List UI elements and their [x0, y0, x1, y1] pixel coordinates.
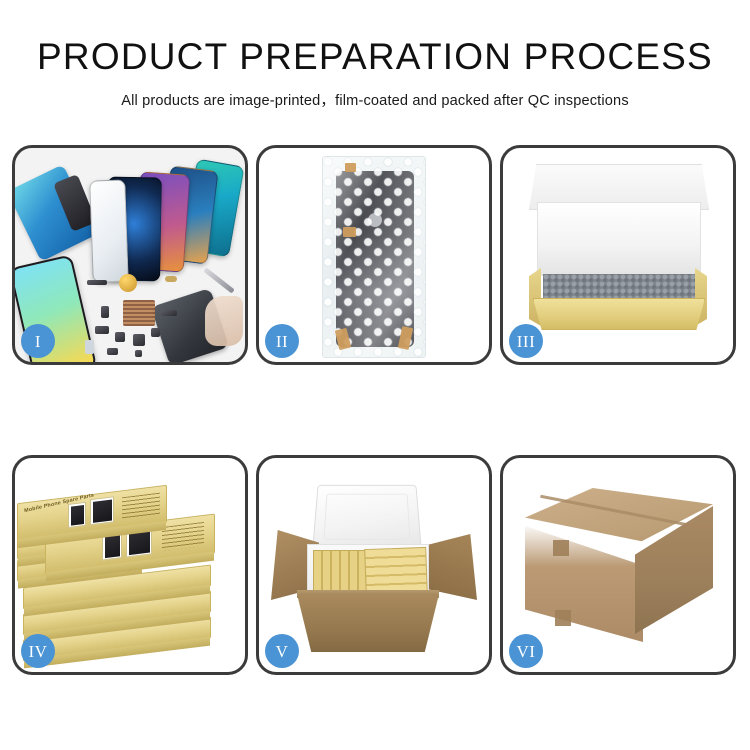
- step-panel-6: VI: [500, 455, 736, 675]
- part-dot: [133, 334, 145, 346]
- gold-component-icon: [119, 274, 137, 292]
- carton-body: [297, 594, 439, 652]
- hand-icon: [205, 296, 243, 346]
- process-grid: I II: [12, 145, 738, 675]
- part-dot: [165, 276, 177, 282]
- tape-piece: [343, 227, 356, 237]
- page-title: PRODUCT PREPARATION PROCESS: [0, 38, 750, 77]
- bubble-wrap-bag: [322, 156, 426, 358]
- phone-screen-1: [89, 179, 129, 282]
- sealed-carton: [525, 488, 713, 648]
- step-badge-5: V: [265, 634, 299, 668]
- part-dot: [87, 280, 107, 285]
- step-badge-4: IV: [21, 634, 55, 668]
- step-panel-3: III: [500, 145, 736, 365]
- page-subtitle: All products are image-printed，film-coat…: [0, 89, 750, 110]
- step-badge-3: III: [509, 324, 543, 358]
- part-dot: [85, 340, 94, 354]
- tape-piece: [345, 163, 356, 172]
- header: PRODUCT PREPARATION PROCESS All products…: [0, 0, 750, 110]
- step-panel-1: I: [12, 145, 248, 365]
- step-panel-5: V: [256, 455, 492, 675]
- part-dot: [115, 332, 125, 342]
- spec-lines: [162, 522, 204, 551]
- part-dot: [107, 348, 118, 355]
- spec-lines: [122, 493, 160, 520]
- blue-screen-film-icon: [15, 164, 97, 261]
- product-window: [90, 496, 114, 525]
- part-dot: [161, 310, 177, 316]
- part-dot: [151, 328, 160, 337]
- product-preparation-infographic: PRODUCT PREPARATION PROCESS All products…: [0, 0, 750, 750]
- step-badge-1: I: [21, 324, 55, 358]
- step-panel-2: II: [256, 145, 492, 365]
- step-badge-6: VI: [509, 634, 543, 668]
- styrofoam-lid: [312, 485, 422, 551]
- tape-tab: [555, 610, 571, 626]
- carton-front-face: [525, 526, 643, 642]
- step-badge-2: II: [265, 324, 299, 358]
- part-dot: [135, 350, 142, 357]
- step-panel-4: Mobile Phone Spare Parts Mobile Phone Sp…: [12, 455, 248, 675]
- part-dot: [95, 326, 109, 334]
- box-stack: Mobile Phone Spare Parts Mobile Phone Sp…: [17, 476, 243, 666]
- part-dot: [101, 306, 109, 318]
- grey-foam-padding: [543, 274, 695, 300]
- box-wall-front: [533, 298, 705, 330]
- tape-tab: [553, 540, 569, 556]
- product-window: [68, 502, 86, 528]
- white-foam-sheet: [537, 202, 701, 276]
- screw-grid-mat: [123, 300, 155, 326]
- phone-screen-fan: [89, 160, 239, 280]
